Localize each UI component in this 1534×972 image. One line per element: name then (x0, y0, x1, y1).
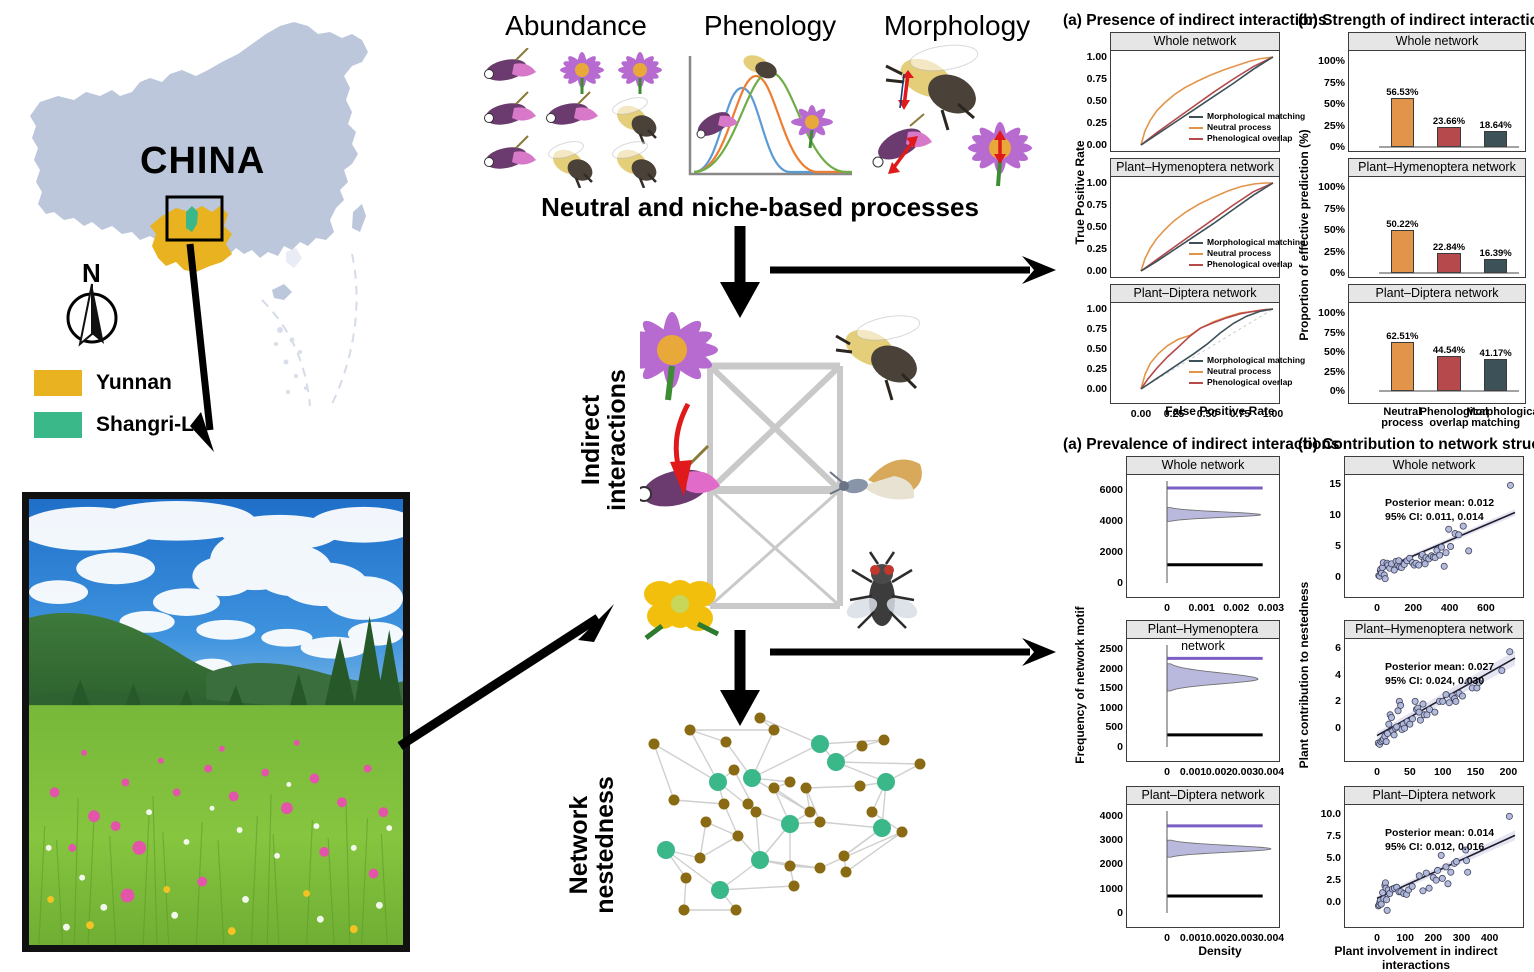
plant-node (805, 807, 816, 818)
facet-strip-label: Plant–Hymenoptera network (1127, 621, 1279, 639)
heading-morphology: Morphology (862, 10, 1052, 42)
pollinator-node (781, 815, 799, 833)
axis-tick-y: 25% (1324, 120, 1345, 132)
axis-tick-y: 0.00 (1087, 139, 1107, 151)
legend-entry-label: Neutral process (1207, 248, 1271, 258)
axis-tick-y: 10 (1329, 509, 1341, 521)
axis-tick-y: 0% (1330, 141, 1345, 153)
roc-plot-area (1111, 303, 1279, 405)
plant-node (897, 827, 908, 838)
legend-color-dash (1189, 116, 1203, 118)
plant-node (743, 799, 754, 810)
plant-node (721, 737, 732, 748)
legend-color-dash (1189, 253, 1203, 255)
network-nestedness-label: Network nestedness (566, 740, 619, 950)
roc-legend-entry: Morphological matching (1189, 111, 1305, 121)
axis-tick-y: 0.0 (1326, 896, 1341, 908)
ranunculus-node-icon (644, 580, 718, 638)
axis-tick-x: 100 (1396, 932, 1414, 944)
facet-strip-label: Whole network (1127, 457, 1279, 475)
axis-tick-y: 0.25 (1087, 117, 1107, 129)
axis-tick-y: 2000 (1100, 858, 1123, 870)
contribution-y-axis-title: Plant contribution to nestedness (1297, 530, 1311, 820)
plant-node (729, 765, 740, 776)
legend-color-dash (1189, 127, 1203, 129)
prevalence-facet-whole: Whole network 020004000600000.0010.0020.… (1126, 456, 1280, 598)
pollinator-node (873, 819, 891, 837)
axis-tick-y: 75% (1324, 327, 1345, 339)
facet-strip-label: Plant–Diptera network (1127, 787, 1279, 805)
posterior-mean-annotation: Posterior mean: 0.014 (1385, 827, 1494, 839)
bar-category-label: Morphological matching (1466, 407, 1525, 429)
axis-tick-x: 150 (1467, 766, 1485, 778)
axis-tick-x: 0.00 (1131, 408, 1151, 420)
axis-tick-y: 100% (1318, 55, 1345, 67)
plant-node (733, 831, 744, 842)
roc-legend-entry: Morphological matching (1189, 355, 1305, 365)
plant-node (669, 795, 680, 806)
axis-tick-x: 0.50 (1197, 408, 1217, 420)
legend-entry-label: Neutral process (1207, 122, 1271, 132)
axis-tick-y: 7.5 (1326, 830, 1341, 842)
axis-tick-x: 200 (1500, 766, 1518, 778)
axis-tick-y: 1.00 (1087, 303, 1107, 315)
phenology-curve-plot (680, 48, 860, 188)
legend-color-dash (1189, 371, 1203, 373)
axis-tick-y: 1.00 (1087, 177, 1107, 189)
axis-tick-y: 0 (1335, 722, 1341, 734)
legend-entry-label: Phenological overlap (1207, 133, 1293, 143)
pollinator-node (711, 881, 729, 899)
axis-tick-x: 200 (1405, 602, 1423, 614)
indirect-interactions-label: Indirect interactions (578, 340, 631, 540)
bar-axis (1349, 51, 1525, 153)
axis-tick-x: 0.75 (1230, 408, 1250, 420)
contribution-facet-hymenoptera: Plant–Hymenoptera network 02460501001502… (1344, 620, 1524, 762)
facet-strip-label: Plant–Hymenoptera network (1349, 159, 1525, 177)
axis-tick-y: 5.0 (1326, 852, 1341, 864)
axis-tick-x: 0 (1374, 932, 1380, 944)
roc-legend-entry: Phenological overlap (1189, 377, 1293, 387)
axis-tick-y: 100% (1318, 181, 1345, 193)
axis-tick-y: 100% (1318, 307, 1345, 319)
axis-tick-y: 0.00 (1087, 383, 1107, 395)
roc-legend-entry: Neutral process (1189, 366, 1271, 376)
pollinator-node (743, 769, 761, 787)
legend-entry-label: Phenological overlap (1207, 377, 1293, 387)
axis-tick-y: 10.0 (1321, 808, 1341, 820)
axis-tick-y: 1000 (1100, 702, 1123, 714)
axis-tick-y: 0.75 (1087, 323, 1107, 335)
plant-node (769, 725, 780, 736)
axis-tick-x: 0 (1164, 766, 1170, 778)
bumblebee-large-icon (886, 44, 982, 130)
aster-flower-icon (560, 52, 662, 94)
nestedness-network-graph (614, 700, 934, 960)
axis-tick-y: 2 (1335, 695, 1341, 707)
strength-panel-title: (b) Strength of indirect interactions (1298, 12, 1534, 30)
axis-tick-y: 50% (1324, 346, 1345, 358)
network-nodes (649, 713, 926, 916)
proboscis-length-arrow (898, 70, 914, 110)
plant-node (685, 725, 696, 736)
axis-tick-y: 25% (1324, 246, 1345, 258)
prevalence-x-axis-title: Density (1140, 944, 1300, 958)
plant-node (731, 905, 742, 916)
scatter-plot-area (1345, 475, 1523, 599)
axis-tick-y: 0.50 (1087, 95, 1107, 107)
plant-node (701, 817, 712, 828)
strength-facet-diptera: Plant–Diptera network 0%25%50%75%100%62.… (1348, 284, 1526, 404)
china-map-svg (0, 0, 440, 470)
roc-legend-entry: Morphological matching (1189, 237, 1305, 247)
plant-node (695, 853, 706, 864)
legend-color-dash (1189, 264, 1203, 266)
pollinator-node (811, 735, 829, 753)
axis-tick-y: 5 (1335, 540, 1341, 552)
roc-legend-entry: Neutral process (1189, 122, 1271, 132)
pollinator-node (877, 773, 895, 791)
axis-tick-y: 50% (1324, 98, 1345, 110)
strength-y-axis-title: Proportion of effective prediction (%) (1297, 110, 1311, 360)
legend-entry-label: Morphological matching (1207, 355, 1305, 365)
abundance-icon-grid (480, 48, 670, 188)
axis-tick-y: 1500 (1100, 682, 1123, 694)
density-plot-area (1127, 639, 1279, 763)
plant-node (785, 777, 796, 788)
axis-tick-y: 50% (1324, 224, 1345, 236)
facet-strip-label: Plant–Diptera network (1349, 285, 1525, 303)
axis-tick-y: 0.25 (1087, 363, 1107, 375)
legend-label-yunnan: Yunnan (96, 371, 172, 395)
bar-axis (1349, 177, 1525, 279)
roc-facet-hymenoptera: Plant–Hymenoptera network 0.000.250.500.… (1110, 158, 1280, 278)
axis-tick-x: 0 (1164, 932, 1170, 944)
axis-tick-y: 0.50 (1087, 221, 1107, 233)
arrow-to-roc-panels (768, 248, 1058, 288)
axis-tick-x: 0.003 (1232, 932, 1258, 944)
scatter-plot-area (1345, 805, 1523, 929)
axis-tick-x: 0.002 (1223, 602, 1249, 614)
contribution-facet-diptera: Plant–Diptera network 0.02.55.07.510.001… (1344, 786, 1524, 928)
plant-node (815, 817, 826, 828)
plant-node (839, 851, 850, 862)
legend-color-dash (1189, 360, 1203, 362)
legend-item-shangri-la: Shangri-La (34, 412, 206, 438)
axis-tick-y: 0.50 (1087, 343, 1107, 355)
prevalence-facet-diptera: Plant–Diptera network 010002000300040000… (1126, 786, 1280, 928)
axis-tick-y: 25% (1324, 366, 1345, 378)
bipartite-interaction-diagram (640, 310, 960, 640)
facet-strip-label: Whole network (1111, 33, 1279, 51)
plant-node (801, 783, 812, 794)
strength-facet-hymenoptera: Plant–Hymenoptera network 0%25%50%75%100… (1348, 158, 1526, 278)
plant-node (915, 759, 926, 770)
legend-color-dash (1189, 382, 1203, 384)
axis-tick-y: 0% (1330, 385, 1345, 397)
contribution-x-axis-title: Plant involvement in indirect interactio… (1300, 944, 1532, 972)
axis-tick-x: 400 (1441, 602, 1459, 614)
axis-tick-y: 0 (1117, 907, 1123, 919)
aster-morphology-icon (968, 122, 1032, 186)
plant-node (755, 713, 766, 724)
facet-strip-label: Plant–Diptera network (1111, 285, 1279, 303)
axis-tick-x: 0.003 (1232, 766, 1258, 778)
axis-tick-x: 300 (1453, 932, 1471, 944)
axis-tick-x: 1.00 (1263, 408, 1283, 420)
roc-facet-diptera: Plant–Diptera network 0.000.250.500.751.… (1110, 284, 1280, 404)
axis-tick-y: 0 (1335, 571, 1341, 583)
axis-tick-x: 0 (1374, 766, 1380, 778)
bar-axis (1349, 303, 1525, 405)
field-site-photo-frame (22, 492, 410, 952)
axis-tick-x: 0.004 (1258, 932, 1284, 944)
heading-abundance: Abundance (486, 10, 666, 42)
plant-node (867, 807, 878, 818)
roc-legend-entry: Neutral process (1189, 248, 1271, 258)
density-plot-area (1127, 475, 1279, 599)
plant-node (681, 873, 692, 884)
pollinator-node (709, 773, 727, 791)
axis-tick-y: 3000 (1100, 834, 1123, 846)
legend-label-shangri-la: Shangri-La (96, 413, 206, 437)
legend-color-dash (1189, 138, 1203, 140)
posterior-mean-annotation: Posterior mean: 0.012 (1385, 497, 1494, 509)
axis-tick-x: 0.002 (1206, 766, 1232, 778)
prevalence-facet-hymenoptera: Plant–Hymenoptera network 05001000150020… (1126, 620, 1280, 762)
network-edges (654, 718, 920, 910)
compass-north-label: N (82, 258, 101, 289)
contribution-panel-title: (b) Contribution to network structure (1298, 436, 1534, 454)
axis-tick-y: 0.25 (1087, 243, 1107, 255)
axis-tick-y: 1.00 (1087, 51, 1107, 63)
axis-tick-x: 600 (1477, 602, 1495, 614)
axis-tick-x: 400 (1481, 932, 1499, 944)
axis-tick-y: 0.00 (1087, 265, 1107, 277)
pollinator-node (827, 753, 845, 771)
credible-interval-annotation: 95% CI: 0.011, 0.014 (1385, 511, 1484, 523)
axis-tick-x: 0.25 (1164, 408, 1184, 420)
axis-tick-y: 4000 (1100, 810, 1123, 822)
axis-tick-y: 0.75 (1087, 199, 1107, 211)
credible-interval-annotation: 95% CI: 0.012, 0.016 (1385, 841, 1484, 853)
facet-strip-label: Plant–Hymenoptera network (1111, 159, 1279, 177)
legend-entry-label: Phenological overlap (1207, 259, 1293, 269)
prevalence-y-axis-title: Frequency of network motif (1073, 540, 1087, 830)
axis-tick-y: 1000 (1100, 883, 1123, 895)
axis-tick-x: 0.004 (1258, 766, 1284, 778)
axis-tick-x: 0.001 (1180, 766, 1206, 778)
plant-node (841, 867, 852, 878)
heading-phenology: Phenology (680, 10, 860, 42)
legend-swatch-yunnan (34, 370, 82, 396)
scatter-plot-area (1345, 639, 1523, 763)
alpine-meadow-photograph (29, 499, 403, 945)
axis-tick-y: 15 (1329, 478, 1341, 490)
roc-y-axis-title: True Positive Rate (1073, 120, 1087, 265)
plant-node (855, 781, 866, 792)
legend-swatch-shangri-la (34, 412, 82, 438)
plant-node (789, 881, 800, 892)
legend-item-yunnan: Yunnan (34, 370, 172, 396)
processes-caption: Neutral and niche-based processes (540, 192, 980, 223)
plant-node (879, 735, 890, 746)
axis-tick-x: 50 (1404, 766, 1416, 778)
facet-strip-label: Whole network (1345, 457, 1523, 475)
axis-tick-y: 0 (1117, 741, 1123, 753)
legend-entry-label: Morphological matching (1207, 237, 1305, 247)
plant-node (769, 783, 780, 794)
axis-tick-x: 200 (1425, 932, 1443, 944)
axis-tick-y: 75% (1324, 203, 1345, 215)
bipartite-links (710, 366, 840, 606)
dashed-maritime-boundary (262, 254, 357, 408)
axis-tick-x: 0 (1164, 602, 1170, 614)
study-site-map: N CHINA Yunnan Shangri-La (0, 0, 440, 470)
axis-tick-y: 0.75 (1087, 73, 1107, 85)
roc-legend-entry: Phenological overlap (1189, 133, 1293, 143)
pedicularis-morphology-icon (873, 114, 932, 167)
down-arrow-to-network (710, 226, 770, 318)
axis-tick-x: 0.001 (1180, 932, 1206, 944)
axis-tick-x: 0.003 (1258, 602, 1284, 614)
axis-tick-x: 100 (1434, 766, 1452, 778)
axis-tick-y: 0% (1330, 267, 1345, 279)
legend-entry-label: Morphological matching (1207, 111, 1305, 121)
strength-facet-whole: Whole network 0%25%50%75%100%56.53%23.66… (1348, 32, 1526, 152)
photo-to-center-arrow (392, 596, 632, 756)
posterior-mean-annotation: Posterior mean: 0.027 (1385, 661, 1494, 673)
facet-strip-label: Plant–Hymenoptera network (1345, 621, 1523, 639)
axis-tick-x: 0.002 (1206, 932, 1232, 944)
roc-panel-title: (a) Presence of indirect interactions (1063, 12, 1327, 30)
axis-tick-y: 4 (1335, 669, 1341, 681)
compass-rose-icon (68, 284, 116, 344)
plant-node (679, 905, 690, 916)
moth-node-icon (830, 460, 922, 500)
plant-node (857, 741, 868, 752)
plant-node (649, 739, 660, 750)
axis-tick-y: 2000 (1100, 663, 1123, 675)
roc-legend-entry: Phenological overlap (1189, 259, 1293, 269)
bumblebee-node-icon (836, 312, 923, 400)
pollinator-node (751, 851, 769, 869)
morphology-illustration (862, 44, 1052, 192)
legend-color-dash (1189, 242, 1203, 244)
country-label: CHINA (140, 140, 265, 183)
facet-strip-label: Plant–Diptera network (1345, 787, 1523, 805)
axis-tick-y: 2500 (1100, 643, 1123, 655)
axis-tick-y: 2000 (1100, 546, 1123, 558)
axis-tick-y: 4000 (1100, 515, 1123, 527)
plant-node (815, 863, 826, 874)
plant-node (785, 861, 796, 872)
credible-interval-annotation: 95% CI: 0.024, 0.030 (1385, 675, 1484, 687)
housefly-node-icon (844, 552, 920, 628)
axis-tick-x: 0.001 (1189, 602, 1215, 614)
axis-tick-y: 500 (1105, 721, 1123, 733)
aster-node-icon (640, 312, 718, 400)
contribution-facet-whole: Whole network 0510150200400600Posterior … (1344, 456, 1524, 598)
pollinator-node (657, 841, 675, 859)
facet-strip-label: Whole network (1349, 33, 1525, 51)
axis-tick-y: 0 (1117, 577, 1123, 589)
plant-node (751, 807, 762, 818)
axis-tick-y: 6000 (1100, 484, 1123, 496)
legend-entry-label: Neutral process (1207, 366, 1271, 376)
plant-node (719, 799, 730, 810)
density-plot-area (1127, 805, 1279, 929)
axis-tick-y: 6 (1335, 642, 1341, 654)
roc-facet-whole: Whole network 0.000.250.500.751.00Morpho… (1110, 32, 1280, 152)
axis-tick-y: 75% (1324, 77, 1345, 89)
axis-tick-x: 0 (1374, 602, 1380, 614)
axis-tick-y: 2.5 (1326, 874, 1341, 886)
